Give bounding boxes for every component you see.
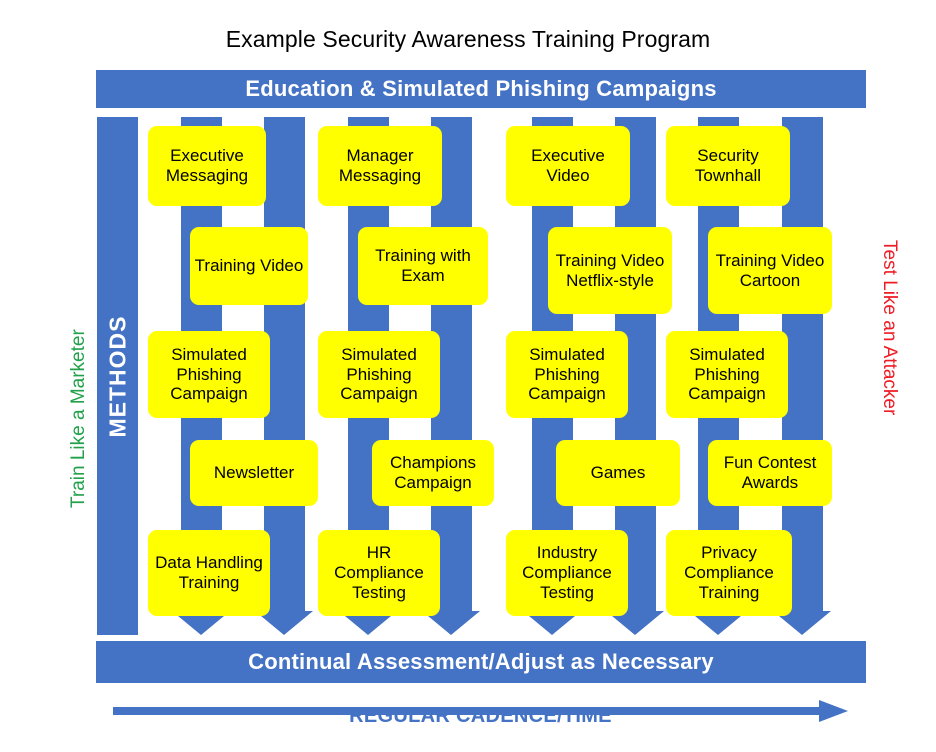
methods-axis-label: METHODS: [97, 117, 138, 635]
right-axis-label: Test Like an Attacker: [876, 238, 906, 508]
header-band-education-campaigns: Education & Simulated Phishing Campaigns: [96, 70, 866, 108]
method-box[interactable]: Training Video: [190, 227, 308, 305]
method-box[interactable]: Training Video Netflix-style: [548, 227, 672, 314]
flow-arrow-2: [264, 117, 305, 635]
method-box[interactable]: Simulated Phishing Campaign: [506, 331, 628, 418]
method-box[interactable]: Simulated Phishing Campaign: [666, 331, 788, 418]
footer-band-continual-assessment: Continual Assessment/Adjust as Necessary: [96, 641, 866, 683]
method-box[interactable]: Manager Messaging: [318, 126, 442, 206]
flow-arrow-shaft: [264, 117, 305, 611]
diagram-canvas: Example Security Awareness Training Prog…: [0, 0, 936, 752]
method-box[interactable]: Data Handling Training: [148, 530, 270, 616]
method-box[interactable]: Privacy Compliance Training: [666, 530, 792, 616]
method-box[interactable]: Security Townhall: [666, 126, 790, 206]
left-axis-text: Train Like a Marketer: [68, 329, 90, 508]
method-box[interactable]: Games: [556, 440, 680, 506]
method-box[interactable]: Fun Contest Awards: [708, 440, 832, 506]
method-box[interactable]: Executive Video: [506, 126, 630, 206]
method-box[interactable]: Simulated Phishing Campaign: [148, 331, 270, 418]
method-box[interactable]: Executive Messaging: [148, 126, 266, 206]
method-box[interactable]: Training Video Cartoon: [708, 227, 832, 314]
method-box[interactable]: Industry Compliance Testing: [506, 530, 628, 616]
page-title: Example Security Awareness Training Prog…: [0, 26, 936, 53]
method-box[interactable]: Simulated Phishing Campaign: [318, 331, 440, 418]
right-axis-text: Test Like an Attacker: [878, 240, 900, 415]
method-box[interactable]: Training with Exam: [358, 227, 488, 305]
method-box[interactable]: Champions Campaign: [372, 440, 494, 506]
method-box[interactable]: Newsletter: [190, 440, 318, 506]
left-axis-label: Train Like a Marketer: [46, 240, 76, 510]
methods-axis-text: METHODS: [104, 315, 131, 437]
method-box[interactable]: HR Compliance Testing: [318, 530, 440, 616]
cadence-label: REGULAR CADENCE/TIME: [113, 705, 848, 728]
